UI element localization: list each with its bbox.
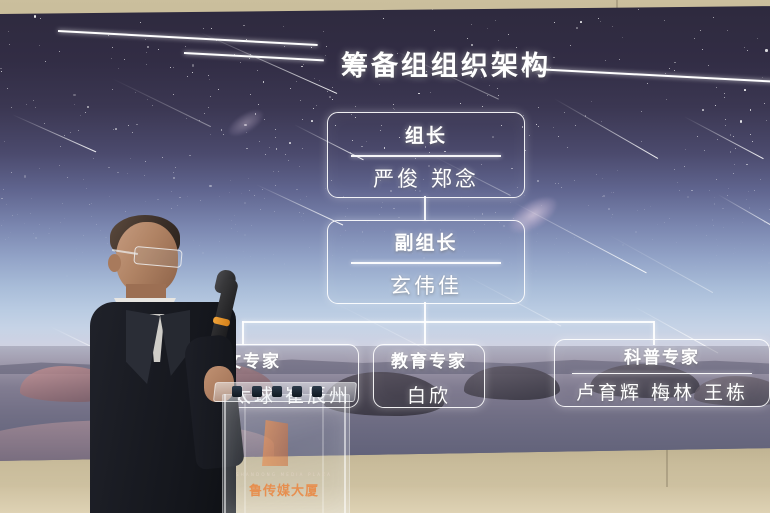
title-line-left-2 [184, 52, 324, 61]
connector-branch-left [242, 321, 244, 345]
podium-chinese-text: 鲁传媒大厦 [230, 480, 338, 499]
connector-deputy-stem [424, 302, 426, 322]
podium-mic [312, 386, 322, 397]
node-science-comm-header: 科普专家 [624, 343, 700, 368]
node-deputy-divider [351, 262, 501, 263]
node-deputy-names: 玄伟佳 [390, 270, 462, 300]
podium-mic [292, 386, 302, 397]
slide-title: 筹备组组织架构 [341, 44, 551, 83]
podium-mic [232, 386, 242, 397]
connector-branch-middle [424, 321, 426, 345]
node-education-header: 教育专家 [391, 347, 467, 372]
acrylic-podium: SHANDONG MEDIA PLAZA 鲁传媒大厦 [214, 376, 354, 513]
node-leader[interactable]: 组长 严俊 郑念 [327, 112, 525, 198]
node-education-names: 白欣 [407, 381, 451, 408]
title-line-left [58, 30, 318, 46]
podium-mic [252, 386, 262, 397]
node-leader-header: 组长 [405, 121, 447, 148]
node-leader-names: 严俊 郑念 [373, 163, 479, 193]
node-deputy-header: 副组长 [394, 228, 457, 255]
podium-edge-left [224, 394, 226, 513]
scene-root: 筹备组组织架构 组长 严俊 郑念 副组长 玄伟佳 [0, 0, 770, 513]
connector-leader-to-deputy [424, 196, 426, 220]
podium-edge-right [344, 394, 346, 513]
node-leader-divider [351, 155, 501, 156]
node-education-expert[interactable]: 教育专家 白欣 [373, 344, 485, 408]
podium-english-text: SHANDONG MEDIA PLAZA [230, 472, 338, 477]
connector-horizontal-bus [242, 321, 654, 323]
title-line-right [534, 68, 770, 83]
podium-microphone-row [232, 386, 336, 398]
node-deputy-leader[interactable]: 副组长 玄伟佳 [327, 220, 525, 304]
node-science-comm-divider [572, 373, 752, 374]
presenter-ear [108, 254, 121, 272]
node-science-comm-names: 卢育辉 梅林 王栋 [576, 378, 748, 405]
node-science-comm-expert[interactable]: 科普专家 卢育辉 梅林 王栋 [554, 339, 770, 407]
podium-mic [272, 386, 282, 397]
podium-building-logo [262, 420, 288, 466]
